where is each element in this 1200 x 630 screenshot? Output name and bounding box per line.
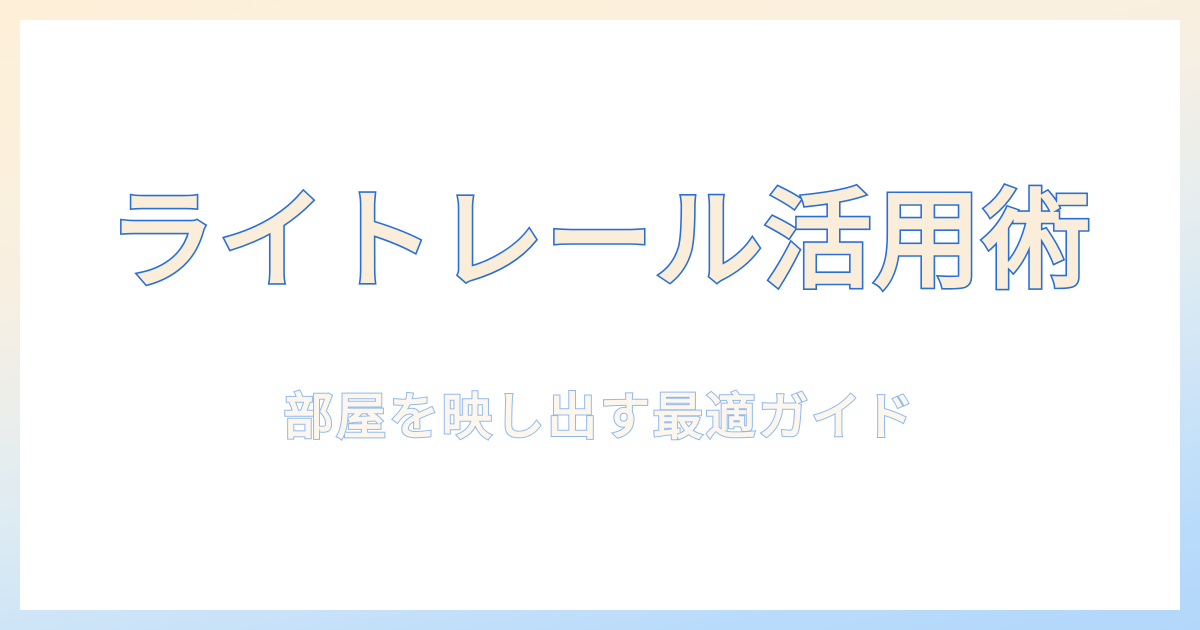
subtitle-block: 部屋を映し出す最適ガイド	[20, 392, 1180, 442]
page-subtitle: 部屋を映し出す最適ガイド	[284, 392, 917, 442]
page-title: ライトレール活用術	[108, 188, 1092, 296]
content-card: ライトレール活用術 部屋を映し出す最適ガイド	[20, 20, 1180, 610]
poster-canvas: ライトレール活用術 部屋を映し出す最適ガイド	[0, 0, 1200, 630]
title-block: ライトレール活用術	[20, 188, 1180, 296]
